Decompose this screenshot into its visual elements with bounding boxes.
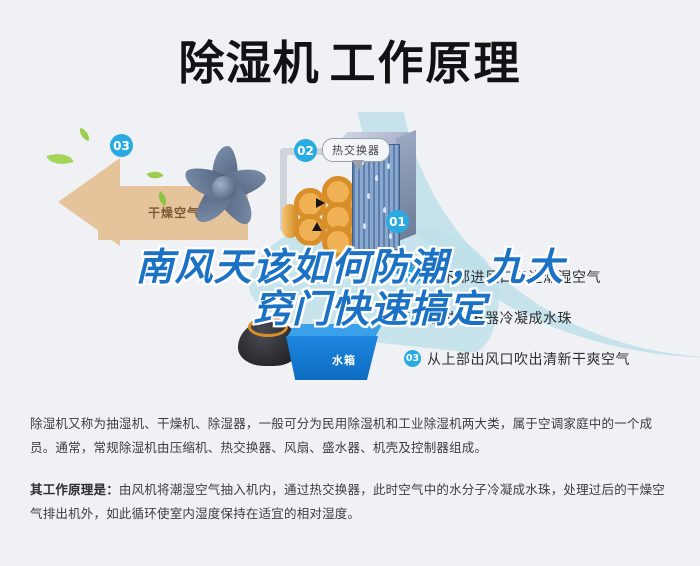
step-list: 01 从下部进风口吸进潮湿空气 02 经过蒸发器冷凝成水珠 03 从上部出风口吹… <box>404 256 700 379</box>
diagram-badge-01: 01 <box>386 210 409 233</box>
callout-tail-icon <box>352 160 364 171</box>
paragraph-two-lead: 其工作原理是： <box>30 482 119 497</box>
list-item: 03 从上部出风口吹出清新干爽空气 <box>404 338 700 379</box>
article-body: 除湿机又称为抽湿机、干燥机、除湿器，一般可分为民用除湿机和工业除湿机两大类，属于… <box>30 412 676 544</box>
step-number: 01 <box>404 268 421 285</box>
diagram-badge-02: 02 <box>294 139 317 162</box>
step-text: 从下部进风口吸进潮湿空气 <box>427 267 601 287</box>
leaf-icon <box>77 128 93 142</box>
arrow-head <box>58 158 120 246</box>
step-number: 03 <box>404 350 421 367</box>
fan-hub <box>212 176 236 200</box>
step-text: 从上部出风口吹出清新干爽空气 <box>427 349 630 369</box>
compressor-ring <box>248 317 288 337</box>
water-tank-icon: 水箱 <box>286 324 382 382</box>
title-part-two: 工作原理 <box>330 40 522 86</box>
fan-icon <box>176 140 272 236</box>
title-part-one: 除湿机 <box>179 40 320 86</box>
infographic-page: 除湿机 工作原理 干燥空气 潮湿空气 <box>0 0 700 566</box>
water-tank-label: 水箱 <box>332 352 356 368</box>
paragraph-two: 其工作原理是：由风机将潮湿空气抽入机内，通过热交换器，此时空气中的水分子冷凝成水… <box>30 478 676 526</box>
step-text: 经过蒸发器冷凝成水珠 <box>427 308 572 328</box>
flow-arrow-up-icon <box>312 222 322 231</box>
heat-exchanger-callout: 热交换器 <box>322 138 390 162</box>
paragraph-one: 除湿机又称为抽湿机、干燥机、除湿器，一般可分为民用除湿机和工业除湿机两大类，属于… <box>30 412 676 460</box>
diagram-badge-03: 03 <box>110 134 133 157</box>
step-number: 02 <box>404 309 421 326</box>
page-title: 除湿机 工作原理 <box>0 18 700 108</box>
list-item: 02 经过蒸发器冷凝成水珠 <box>404 297 700 338</box>
paragraph-two-rest: 由风机将潮湿空气抽入机内，通过热交换器，此时空气中的水分子冷凝成水珠，处理过后的… <box>30 482 665 521</box>
list-item: 01 从下部进风口吸进潮湿空气 <box>404 256 700 297</box>
flow-arrow-right-icon <box>316 198 325 208</box>
